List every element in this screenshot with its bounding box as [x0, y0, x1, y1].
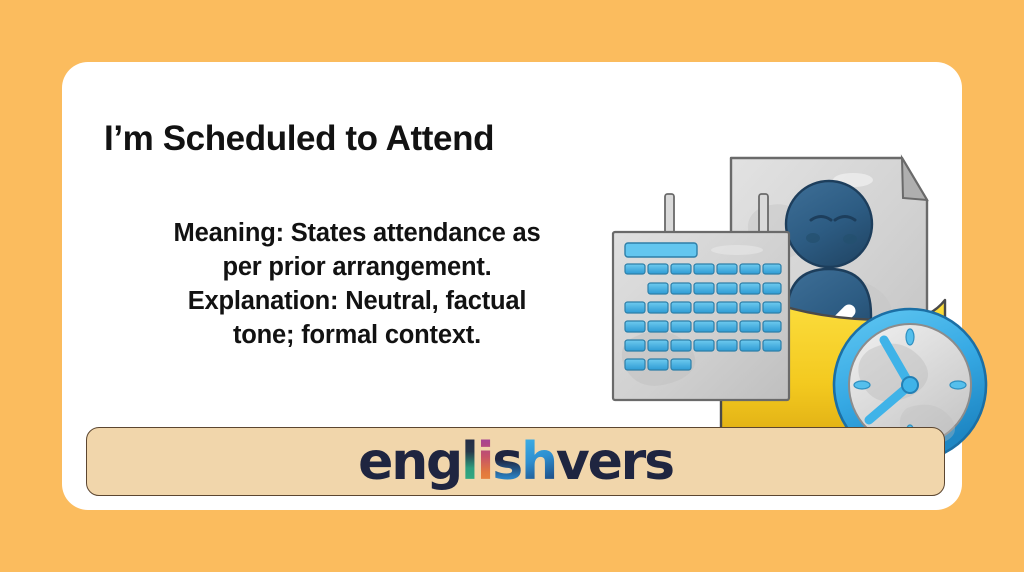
logo-segment-h: h [521, 436, 556, 488]
calendar-header-bar [625, 243, 697, 257]
body-text: Meaning: States attendance as per prior … [82, 217, 632, 353]
logo-segment-i: i [477, 436, 493, 488]
logo-segment-l: l [461, 436, 477, 488]
logo-segment-s: s [492, 436, 521, 488]
calendar [613, 194, 789, 400]
scheduled-meeting-illustration [607, 140, 1007, 470]
body-line-4: tone; formal context. [82, 319, 632, 353]
body-line-2: per prior arrangement. [82, 251, 632, 285]
logo-segment-vers: vers [556, 436, 673, 488]
logo-segment-eng: eng [358, 436, 461, 488]
content-card: I’m Scheduled to Attend Meaning: States … [62, 62, 962, 510]
page-title: I’m Scheduled to Attend [104, 120, 624, 159]
body-line-3: Explanation: Neutral, factual [82, 285, 632, 319]
body-line-1: Meaning: States attendance as [82, 217, 632, 251]
logo-banner: englishvers [86, 427, 945, 496]
calendar-day-headers [625, 264, 781, 274]
englishvers-logo: englishvers [358, 436, 673, 488]
